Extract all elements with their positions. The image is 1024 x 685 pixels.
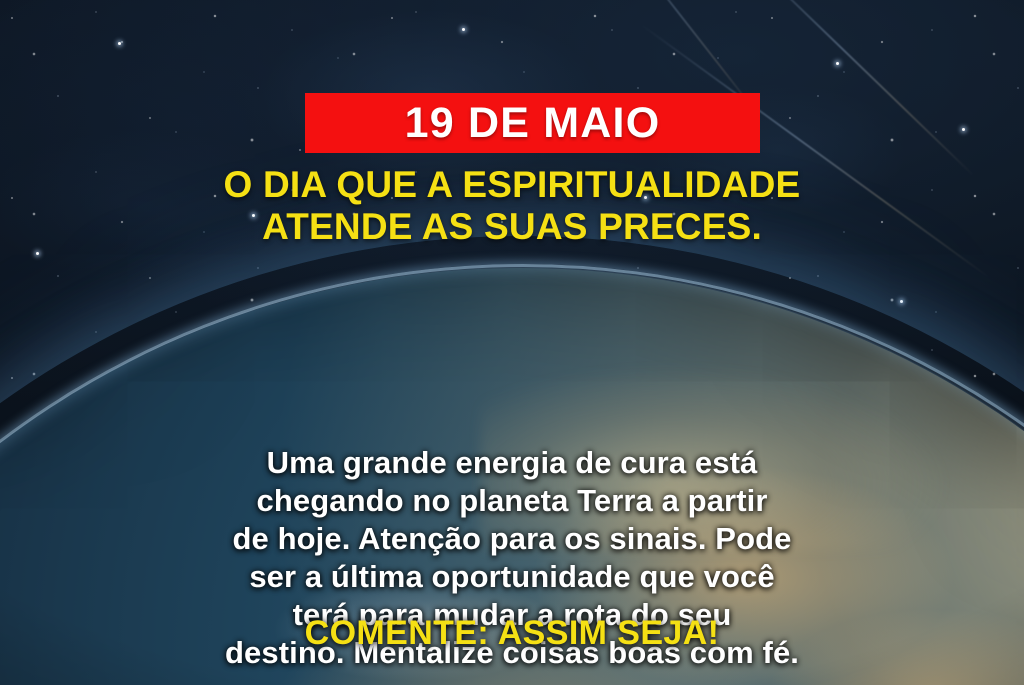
body-line-3: de hoje. Atenção para os sinais. Pode [52,520,972,558]
body-line-2: chegando no planeta Terra a partir [52,482,972,520]
poster-canvas: 19 DE MAIO O DIA QUE A ESPIRITUALIDADE A… [0,0,1024,685]
body-line-1: Uma grande energia de cura está [52,444,972,482]
date-banner-label: 19 DE MAIO [405,102,661,145]
body-line-4: ser a última oportunidade que você [52,558,972,596]
date-banner: 19 DE MAIO [305,93,760,153]
poster-content: 19 DE MAIO O DIA QUE A ESPIRITUALIDADE A… [0,0,1024,685]
headline: O DIA QUE A ESPIRITUALIDADE ATENDE AS SU… [0,164,1024,248]
cta-text: COMENTE: ASSIM SEJA! [0,613,1024,653]
headline-line-2: ATENDE AS SUAS PRECES. [0,206,1024,248]
headline-line-1: O DIA QUE A ESPIRITUALIDADE [0,164,1024,206]
